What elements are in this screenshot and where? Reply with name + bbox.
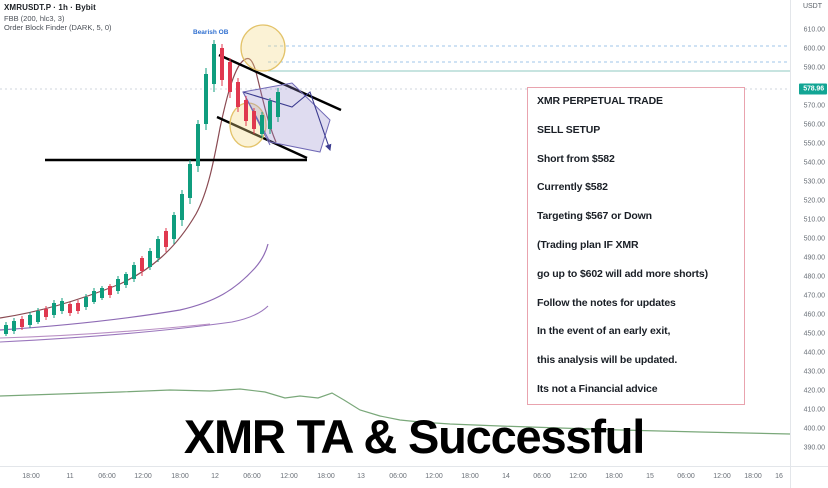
note-line: SELL SETUP [537,125,735,136]
price-tick: 560.00 [804,122,825,129]
note-line: this analysis will be updated. [537,355,735,366]
note-line: In the event of an early exit, [537,326,735,337]
time-tick: 12 [211,473,219,480]
price-tick: 540.00 [804,160,825,167]
time-tick: 12:00 [713,473,731,480]
time-tick: 11 [66,473,73,480]
time-tick: 15 [646,473,654,480]
time-tick: 06:00 [389,473,407,480]
price-tick: 440.00 [804,350,825,357]
time-tick: 18:00 [744,473,762,480]
note-line: Follow the notes for updates [537,298,735,309]
price-tick: 480.00 [804,274,825,281]
price-tick: 510.00 [804,217,825,224]
time-axis[interactable]: 18:00 11 06:00 12:00 18:00 12 06:00 12:0… [0,466,790,488]
axis-corner [790,466,828,488]
time-tick: 14 [502,473,510,480]
time-tick: 18:00 [171,473,189,480]
price-tick: 520.00 [804,198,825,205]
time-tick: 13 [357,473,365,480]
note-line: Short from $582 [537,154,735,165]
time-tick: 18:00 [317,473,335,480]
time-tick: 12:00 [280,473,298,480]
bearish-ob-label: Bearish OB [193,29,228,36]
price-tick: 500.00 [804,236,825,243]
note-line: (Trading plan IF XMR [537,240,735,251]
time-tick: 18:00 [22,473,40,480]
price-tick: 490.00 [804,255,825,262]
trade-note-box[interactable]: XMR PERPETUAL TRADE SELL SETUP Short fro… [527,87,745,405]
tradingview-chart-screenshot: Bearish OB XMR PERPETUAL TRADE SELL SETU… [0,0,828,488]
ma-fast-line [0,58,276,318]
time-tick: 06:00 [98,473,116,480]
note-line: Currently $582 [537,182,735,193]
candlestick-series [4,40,280,336]
time-tick: 06:00 [677,473,695,480]
price-tick: 430.00 [804,369,825,376]
time-tick: 12:00 [569,473,587,480]
overlay-banner-text: XMR TA & Successful [0,413,828,460]
note-line: Its not a Financial advice [537,384,735,395]
time-tick: 16 [775,473,783,480]
price-axis[interactable]: USDT 610.00 600.00 590.00 578.96 570.00 … [790,0,828,466]
price-tick: 570.00 [804,103,825,110]
price-tick: 470.00 [804,293,825,300]
price-tick: 550.00 [804,141,825,148]
note-line: XMR PERPETUAL TRADE [537,96,735,107]
price-tick: 610.00 [804,27,825,34]
note-line: Targeting $567 or Down [537,211,735,222]
price-tick: 590.00 [804,65,825,72]
note-line: go up to $602 will add more shorts) [537,269,735,280]
price-tick: 420.00 [804,388,825,395]
price-tick: 600.00 [804,46,825,53]
currency-label: USDT [803,3,822,10]
time-tick: 18:00 [461,473,479,480]
time-tick: 12:00 [425,473,443,480]
order-block-zone-upper [241,25,285,71]
price-tick: 460.00 [804,312,825,319]
time-tick: 12:00 [134,473,152,480]
ma-slow-line [0,244,268,330]
time-tick: 06:00 [533,473,551,480]
last-price-badge: 578.96 [799,84,827,95]
price-tick: 450.00 [804,331,825,338]
price-tick: 530.00 [804,179,825,186]
time-tick: 18:00 [605,473,623,480]
time-tick: 06:00 [243,473,261,480]
